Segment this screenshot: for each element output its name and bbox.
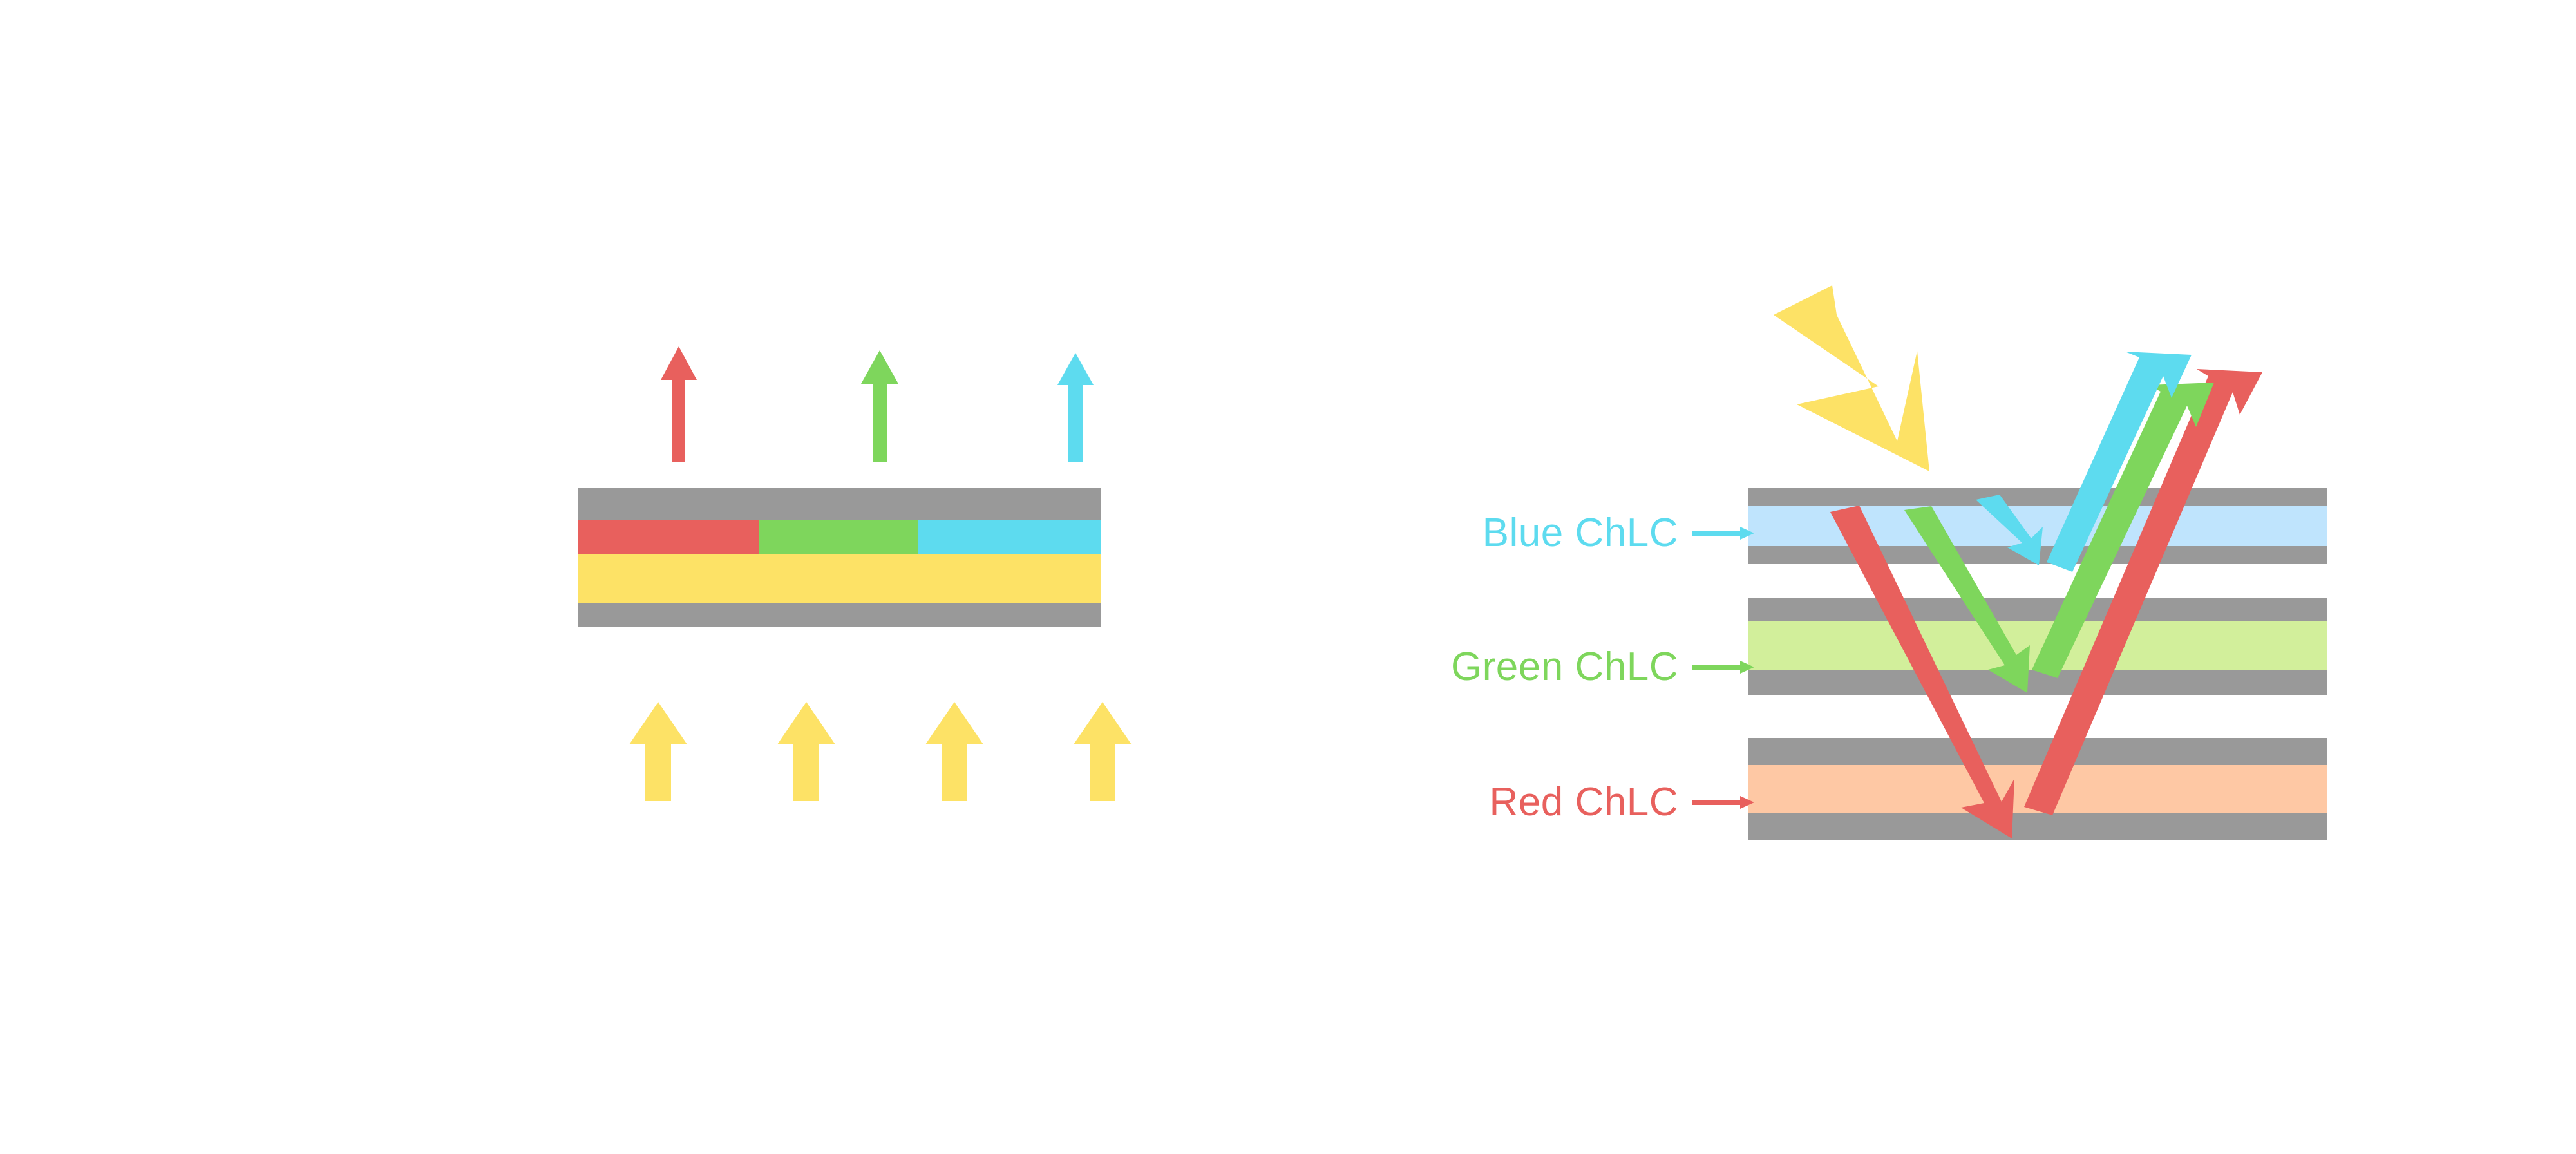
backlight-arrow-4 <box>1074 702 1132 801</box>
emitted-light-arrow-group <box>661 346 1094 462</box>
green-chlc-cell <box>1748 598 2327 695</box>
red-emission-arrow <box>661 346 697 462</box>
label-arrow-group <box>1692 527 1754 809</box>
green-cell-bottom-electrode <box>1748 670 2327 695</box>
backlight-arrow-3 <box>925 702 983 801</box>
blue-chlc-label: Blue ChLC <box>1482 511 1678 555</box>
green-chlc-label: Green ChLC <box>1451 645 1678 689</box>
diagram-canvas: Blue ChLC Green ChLC Red ChLC <box>0 0 2576 1154</box>
backlight-arrow-1 <box>629 702 687 801</box>
bottom-electrode-layer <box>578 603 1101 627</box>
emissive-stack-panel <box>578 346 1132 801</box>
backlight-arrow-2 <box>777 702 835 801</box>
reflective-stack-panel <box>1692 285 2327 840</box>
blue-label-arrow-icon <box>1692 527 1754 540</box>
ambient-light-arrow <box>1774 285 1929 471</box>
backlight-layer <box>578 554 1101 603</box>
red-label-arrow-icon <box>1692 796 1754 809</box>
green-filter-segment <box>759 520 918 554</box>
blue-cell-top-electrode <box>1748 488 2327 506</box>
green-label-arrow-icon <box>1692 661 1754 674</box>
red-cell-bottom-electrode <box>1748 813 2327 840</box>
green-cell-top-electrode <box>1748 598 2327 621</box>
red-filter-segment <box>578 520 759 554</box>
blue-filter-segment <box>918 520 1101 554</box>
red-chlc-label: Red ChLC <box>1490 780 1678 824</box>
backlight-arrow-group <box>629 702 1132 801</box>
figure-root: Blue ChLC Green ChLC Red ChLC <box>0 0 2576 1154</box>
cyan-emission-arrow <box>1057 353 1094 462</box>
emissive-stack-body <box>578 488 1101 627</box>
red-cell-top-electrode <box>1748 738 2327 765</box>
top-electrode-layer <box>578 488 1101 520</box>
green-emission-arrow <box>861 350 898 462</box>
